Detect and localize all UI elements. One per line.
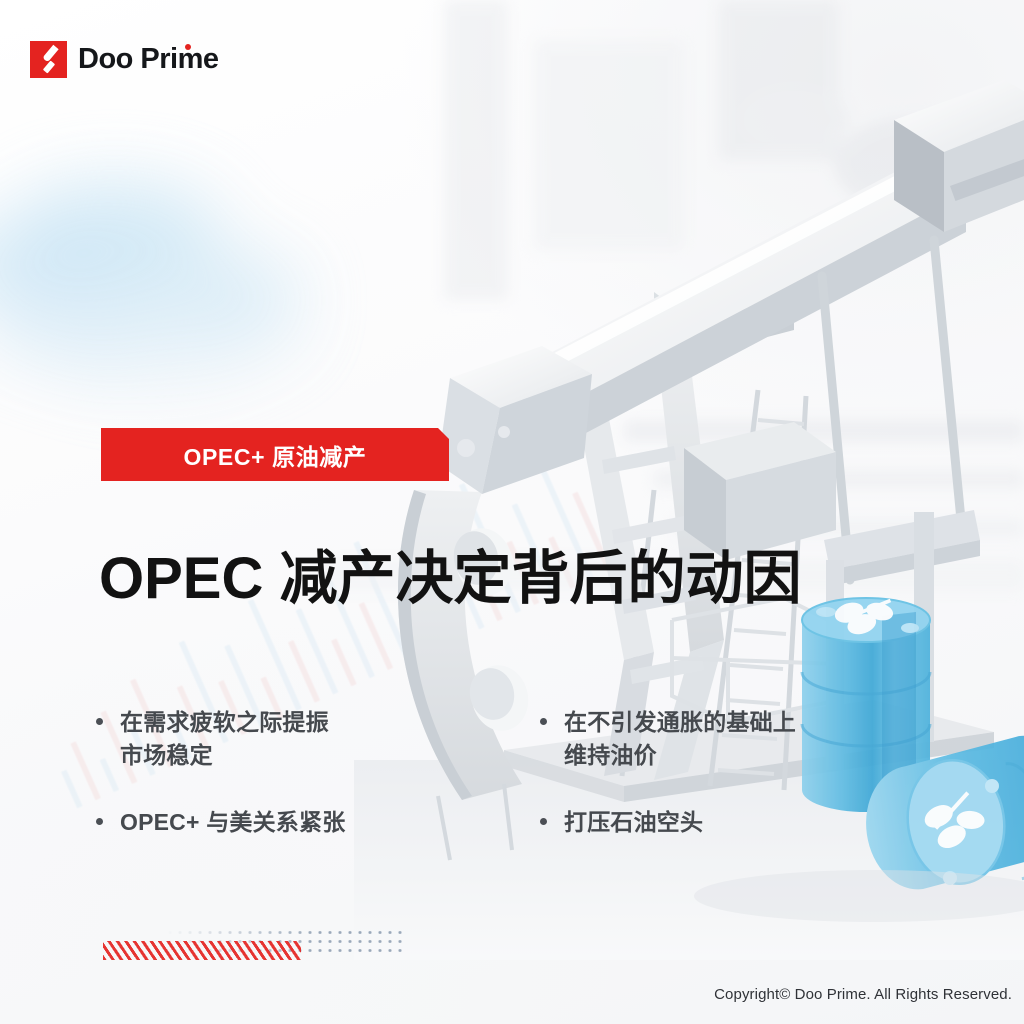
bullet-label: 打压石油空头	[564, 806, 703, 839]
bullet-label: 在不引发通胀的基础上维持油价	[564, 706, 796, 771]
list-item: 打压石油空头	[540, 806, 926, 839]
bullet-dot-icon	[96, 718, 103, 725]
bullet-label: 在需求疲软之际提振市场稳定	[120, 706, 329, 771]
doo-prime-mark-icon	[30, 41, 67, 78]
list-item: 在需求疲软之际提振市场稳定	[96, 706, 482, 771]
bullet-dot-icon	[540, 818, 547, 825]
bullet-dot-icon	[540, 718, 547, 725]
brand-accent-dot-icon	[185, 44, 191, 50]
bullet-sections: 在需求疲软之际提振市场稳定 OPEC+ 与美关系紧张 在不引发通胀的基础上维持油…	[96, 706, 926, 839]
bullet-dot-icon	[96, 818, 103, 825]
list-item: 在不引发通胀的基础上维持油价	[540, 706, 926, 771]
blue-watermark-shape	[0, 170, 360, 400]
decorative-graphic	[103, 926, 403, 960]
brand-name-text: Doo Prime	[78, 43, 219, 75]
brand-name: Doo Prime	[78, 43, 219, 76]
copyright-notice: Copyright© Doo Prime. All Rights Reserve…	[714, 986, 1012, 1003]
category-banner-label: OPEC+ 原油减产	[183, 438, 366, 472]
bullet-column-right: 在不引发通胀的基础上维持油价 打压石油空头	[540, 706, 926, 839]
poster-canvas: Doo Prime OPEC+ 原油减产 OPEC 减产决定背后的动因 在需求疲…	[0, 0, 1024, 1024]
bullet-column-left: 在需求疲软之际提振市场稳定 OPEC+ 与美关系紧张	[96, 706, 482, 839]
bullet-label: OPEC+ 与美关系紧张	[120, 806, 345, 839]
brand-logo[interactable]: Doo Prime	[30, 41, 219, 78]
category-banner: OPEC+ 原油减产	[101, 428, 449, 481]
list-item: OPEC+ 与美关系紧张	[96, 806, 482, 839]
page-title: OPEC 减产决定背后的动因	[99, 543, 802, 616]
diagonal-stripes-decoration	[103, 941, 301, 960]
